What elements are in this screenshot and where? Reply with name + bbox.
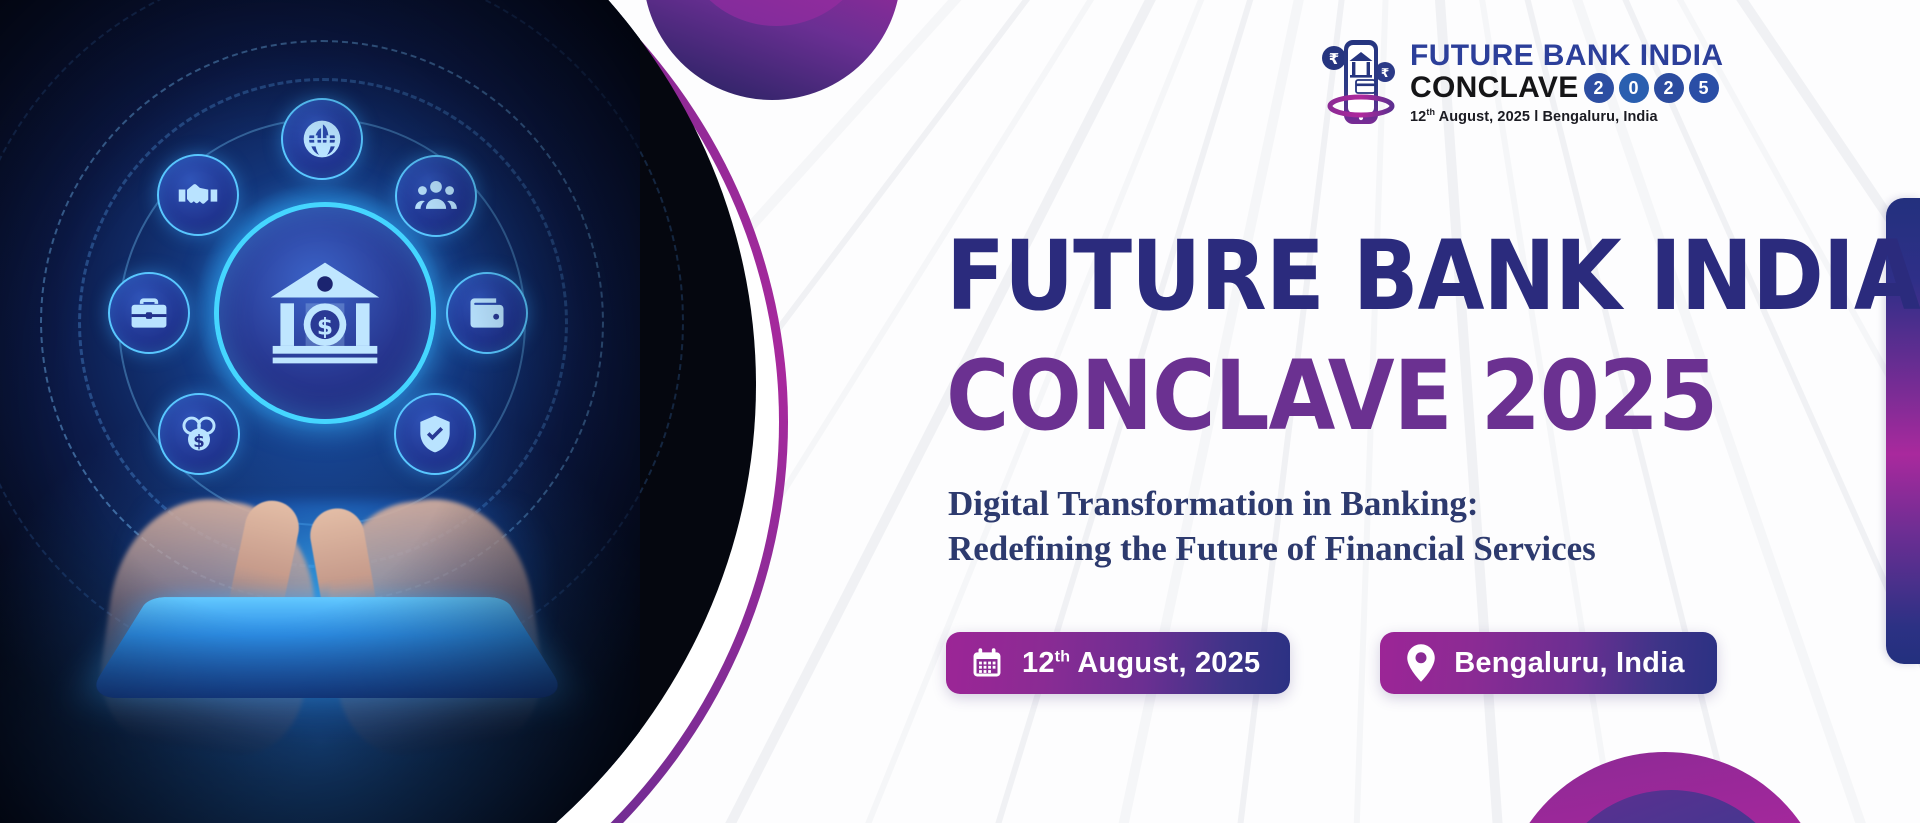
map-pin-icon [1406,644,1436,682]
location-pill-label: Bengaluru, India [1454,647,1684,680]
info-pills: 12th August, 2025 Bengaluru, India [946,632,1717,694]
event-banner: $ [0,0,1920,823]
date-pill-rest: August, 2025 [1070,647,1260,679]
content-block: FUTURE BANK INDIA CONCLAVE 2025 Digital … [946,0,1806,823]
calendar-icon [970,646,1004,680]
headline-line2: CONCLAVE 2025 [946,348,1717,444]
date-pill-label: 12th August, 2025 [1022,647,1260,680]
date-pill[interactable]: 12th August, 2025 [946,632,1290,694]
headline-line1: FUTURE BANK INDIA [946,228,1920,324]
subtitle: Digital Transformation in Banking: Redef… [948,482,1596,572]
date-pill-ordinal: th [1055,648,1071,665]
date-pill-day: 12 [1022,647,1055,679]
location-pill[interactable]: Bengaluru, India [1380,632,1716,694]
